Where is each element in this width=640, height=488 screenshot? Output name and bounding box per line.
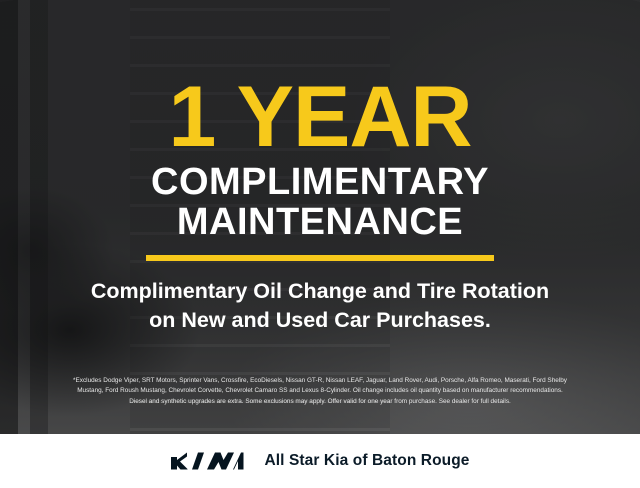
disclaimer-text: *Excludes Dodge Viper, SRT Motors, Sprin…	[0, 376, 640, 407]
promo-copy-line-1: Complimentary Oil Change and Tire Rotati…	[91, 277, 549, 306]
disclaimer-line-3: Diesel and synthetic upgrades are extra.…	[14, 397, 626, 407]
headline-year: 1 YEAR	[168, 78, 471, 157]
headline-maintenance: MAINTENANCE	[177, 203, 463, 243]
disclaimer-line-2: Mustang, Ford Roush Mustang, Chevrolet C…	[14, 386, 626, 396]
promo-copy-line-2: on New and Used Car Purchases.	[149, 306, 491, 335]
disclaimer-line-1: *Excludes Dodge Viper, SRT Motors, Sprin…	[14, 376, 626, 386]
banner-content: 1 YEAR COMPLIMENTARY MAINTENANCE Complim…	[0, 0, 640, 434]
headline-complimentary: COMPLIMENTARY	[151, 163, 489, 203]
kia-logo	[170, 450, 244, 472]
yellow-divider-bar	[146, 255, 494, 261]
promotional-banner: 1 YEAR COMPLIMENTARY MAINTENANCE Complim…	[0, 0, 640, 488]
footer-bar: All Star Kia of Baton Rouge	[0, 434, 640, 488]
hero-section: 1 YEAR COMPLIMENTARY MAINTENANCE Complim…	[0, 0, 640, 434]
dealer-name: All Star Kia of Baton Rouge	[264, 452, 469, 470]
